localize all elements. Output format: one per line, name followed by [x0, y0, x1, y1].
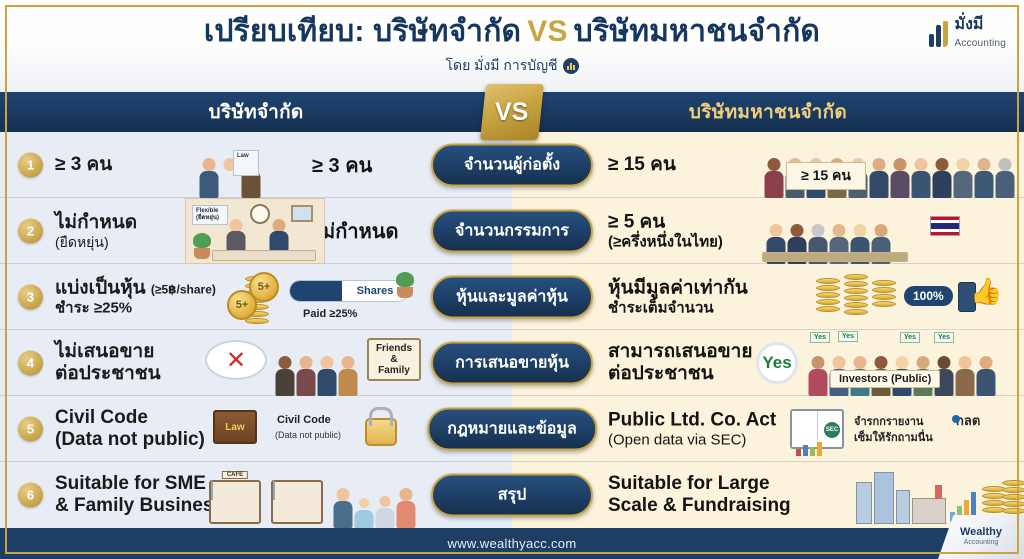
law-book-icon: Law	[213, 410, 257, 444]
desk-shape	[212, 250, 316, 261]
row-number: 6	[18, 483, 43, 508]
row-number: 3	[18, 284, 43, 309]
yes-placard: Yes	[934, 332, 954, 343]
table-row: 4 ไม่เสนอขาย ต่อประชาชน ✕ Friends & Fami…	[0, 330, 1024, 396]
sec-note-line1: จำรกกรายงาน	[854, 412, 923, 430]
sec-logo: กลต	[956, 410, 980, 431]
coin-stack-icon	[816, 278, 840, 312]
row-left-text: Civil Code (Data not public)	[55, 406, 205, 450]
table-row: 3 แบ่งเป็นหุ้น (≥5฿/share) ชำระ ≥25% 5+ …	[0, 264, 1024, 330]
row-right-text: ≥ 15 คน	[608, 153, 676, 175]
vs-chip: VS	[480, 84, 544, 140]
equal-shares-illustration: 100% 👍	[812, 264, 1024, 330]
coin-badge-front: 5+	[227, 290, 257, 320]
row-left-line1: ไม่เสนอขาย	[55, 340, 161, 362]
header: เปรียบเทียบ: บริษัทจำกัดVSบริษัทมหาชนจำก…	[0, 0, 1024, 92]
flexible-card: Flexible (ยืดหยุ่น)	[192, 205, 228, 225]
row-left-value: ≥ 3 คน	[312, 149, 372, 181]
coin-stack-icon	[872, 280, 896, 307]
cafe-sign: CAFE	[222, 471, 248, 479]
title-part-2: บริษัทมหาชนจำกัด	[574, 15, 820, 48]
row-left-text: Suitable for SME & Family Business	[55, 473, 224, 517]
row-pill-label: สรุป	[431, 474, 593, 517]
brand-logo: มั่งมี Accounting	[929, 17, 1006, 51]
row-right-text: Suitable for Large Scale & Fundraising	[608, 473, 791, 517]
row-left-line2: ต่อประชาชน	[55, 363, 161, 385]
factory-icon	[912, 498, 946, 524]
title-vs: VS	[527, 15, 567, 48]
row-left-line1: ≥ 3 คน	[55, 153, 112, 175]
row-number: 5	[18, 416, 43, 441]
conference-table-shape	[762, 252, 908, 262]
skyscraper-icon	[874, 472, 894, 524]
subtitle: โดย มั่งมี การบัญชี	[445, 55, 578, 77]
crowd-illustration: ≥ 15 คน	[760, 132, 1020, 198]
flexible-card-line2: (ยืดหยุ่น)	[196, 215, 219, 221]
flexible-card-line1: Flexible	[196, 208, 218, 214]
infographic-root: เปรียบเทียบ: บริษัทจำกัดVSบริษัทมหาชนจำก…	[0, 0, 1024, 559]
title-part-1: เปรียบเทียบ: บริษัทจำกัด	[204, 15, 521, 48]
row-right-line1: สามารถเสนอขาย	[608, 340, 752, 362]
coin-stack-icon	[245, 276, 269, 324]
thumbs-up-icon: 👍	[970, 278, 1002, 304]
page-title: เปรียบเทียบ: บริษัทจำกัดVSบริษัทมหาชนจำก…	[204, 15, 820, 48]
sec-logo-label: กลต	[956, 413, 980, 428]
row-left-line2: ชำระ ≥25%	[55, 299, 216, 316]
brand-bars-icon	[929, 21, 948, 47]
corner-brand-line1: Wealthy	[960, 527, 1002, 538]
subtitle-text: โดย มั่งมี การบัญชี	[445, 55, 557, 77]
table-row: 2 ไม่กำหนด (ยืดหยุ่น) ไม่กำหนด Flexible …	[0, 198, 1024, 264]
row-pill-label: จำนวนกรรมการ	[431, 209, 593, 252]
lock-icon	[365, 418, 397, 446]
row-left-line2: & Family Business	[55, 495, 224, 517]
no-public-offer-icon: ✕	[205, 340, 267, 380]
picture-frame-icon	[291, 205, 313, 222]
board-meeting-illustration	[760, 198, 1020, 264]
percent-badge: 100%	[904, 286, 953, 306]
row-left-line1: แบ่งเป็นหุ้น (≥5฿/share)	[55, 277, 216, 299]
coin-stack-icon	[1002, 480, 1024, 514]
yes-circle-icon: Yes	[756, 342, 798, 384]
row-right-line1: ≥ 5 คน	[608, 211, 723, 233]
row-number: 1	[18, 152, 43, 177]
skyscraper-icon	[896, 490, 910, 524]
row-left-line1: Suitable for SME	[55, 473, 224, 495]
sec-disclosure-illustration: SEC จำรกกรายงาน เซ็มให้รักถามนื่น กลต	[790, 396, 1024, 462]
paid-caption: Paid ≥25%	[303, 308, 357, 320]
row-left-line1-main: แบ่งเป็นหุ้น	[55, 277, 146, 298]
plant-icon	[192, 233, 212, 259]
plant-icon	[395, 272, 415, 298]
vs-chip-label: VS	[495, 98, 528, 127]
open-book-icon	[790, 409, 844, 449]
brand-text: มั่งมี Accounting	[955, 17, 1006, 51]
sign-line2: & Family	[378, 354, 410, 376]
row-left-text: แบ่งเป็นหุ้น (≥5฿/share) ชำระ ≥25%	[55, 277, 216, 316]
row-left-text: ≥ 3 คน	[55, 153, 112, 175]
row-right-text: Public Ltd. Co. Act (Open data via SEC)	[608, 409, 776, 448]
row-pill-label: หุ้นและมูลค่าหุ้น	[431, 275, 593, 318]
row-right-line1: ≥ 15 คน	[608, 153, 676, 175]
row-right-line2: (≥ครึ่งหนึ่งในไทย)	[608, 233, 723, 250]
footer-website-url[interactable]: www.wealthyacc.com	[448, 536, 577, 551]
row-left-text: ไม่เสนอขาย ต่อประชาชน	[55, 340, 161, 384]
table-row: 6 Suitable for SME & Family Business CAF…	[0, 462, 1024, 528]
column-header-right: บริษัทมหาชนจำกัด	[512, 97, 1024, 127]
shares-progress-bar: Shares	[289, 280, 409, 302]
mini-bar-chart-icon	[796, 418, 822, 456]
corner-brand-line2: Accounting	[964, 538, 999, 548]
coin-stack-icon	[844, 274, 868, 315]
row-right-line1: Public Ltd. Co. Act	[608, 409, 776, 431]
row-number: 4	[18, 350, 43, 375]
civil-code-caption-line2: (Data not public)	[275, 430, 341, 440]
row-right-line2: ชำระเต็มจำนวน	[608, 299, 748, 316]
sign-line1: Friends	[376, 343, 412, 354]
row-right-line2: Scale & Fundraising	[608, 495, 791, 517]
clock-icon	[250, 204, 270, 224]
row-left-line1: ไม่กำหนด	[55, 211, 137, 233]
bar-chart-icon	[563, 58, 579, 74]
row-left-line2: (ยืดหยุ่น)	[55, 233, 137, 249]
phone-icon	[958, 282, 976, 312]
row-pill-label: การเสนอขายหุ้น	[431, 341, 593, 384]
friends-family-sign: Friends & Family	[367, 338, 421, 381]
skyscraper-icon	[856, 482, 872, 524]
row-right-line1: Suitable for Large	[608, 473, 791, 495]
investors-banner: Investors (Public)	[830, 370, 940, 388]
sec-badge-icon: SEC	[824, 422, 840, 438]
founders-illustration: Law	[185, 132, 305, 198]
row-right-line2: ต่อประชาชน	[608, 363, 752, 385]
row-right-text: หุ้นมีมูลค่าเท่ากัน ชำระเต็มจำนวน	[608, 277, 748, 316]
sec-note-line2: เซ็มให้รักถามนื่น	[854, 428, 933, 446]
civil-code-caption-line1: Civil Code	[277, 414, 331, 426]
row-left-line1: Civil Code	[55, 406, 205, 428]
brand-name-en: Accounting	[955, 38, 1006, 49]
footer: www.wealthyacc.com	[0, 528, 1024, 559]
row-right-text: สามารถเสนอขาย ต่อประชาชน	[608, 340, 752, 384]
table-row: 1 ≥ 3 คน ≥ 3 คน Law จำนวนผู้ก่อตั้ง ≥ 15…	[0, 132, 1024, 198]
column-header-left: บริษัทจำกัด	[0, 97, 512, 127]
yes-placard: Yes	[810, 332, 830, 343]
coin-badge-top: 5+	[249, 272, 279, 302]
thai-flag-icon	[930, 216, 960, 236]
row-pill-label: กฎหมายและข้อมูล	[427, 407, 597, 450]
shares-progress-label: Shares	[342, 285, 408, 297]
crowd-count-banner: ≥ 15 คน	[786, 162, 866, 190]
yes-placard: Yes	[838, 331, 858, 342]
row-number: 2	[18, 218, 43, 243]
table-row: 5 Civil Code (Data not public) Law Civil…	[0, 396, 1024, 462]
comparison-rows: 1 ≥ 3 คน ≥ 3 คน Law จำนวนผู้ก่อตั้ง ≥ 15…	[0, 132, 1024, 528]
store-icon	[271, 480, 323, 524]
row-left-value: ไม่กำหนด	[312, 215, 398, 247]
brand-name-th: มั่งมี	[955, 16, 984, 33]
law-document-icon: Law	[233, 150, 259, 176]
meeting-illustration: Flexible (ยืดหยุ่น)	[185, 198, 325, 264]
row-left-text: ไม่กำหนด (ยืดหยุ่น)	[55, 211, 137, 249]
row-left-line1-note: (≥5฿/share)	[151, 282, 216, 296]
row-right-text: ≥ 5 คน (≥ครึ่งหนึ่งในไทย)	[608, 211, 723, 250]
row-left-line2: (Data not public)	[55, 429, 205, 451]
row-right-line2: (Open data via SEC)	[608, 431, 776, 448]
row-pill-label: จำนวนผู้ก่อตั้ง	[431, 143, 593, 186]
yes-placard: Yes	[900, 332, 920, 343]
public-offering-illustration: Yes Yes Yes Yes Yes Investors (Public)	[752, 330, 1024, 396]
coin-stack-icon	[982, 486, 1006, 513]
row-right-line1: หุ้นมีมูลค่าเท่ากัน	[608, 277, 748, 299]
